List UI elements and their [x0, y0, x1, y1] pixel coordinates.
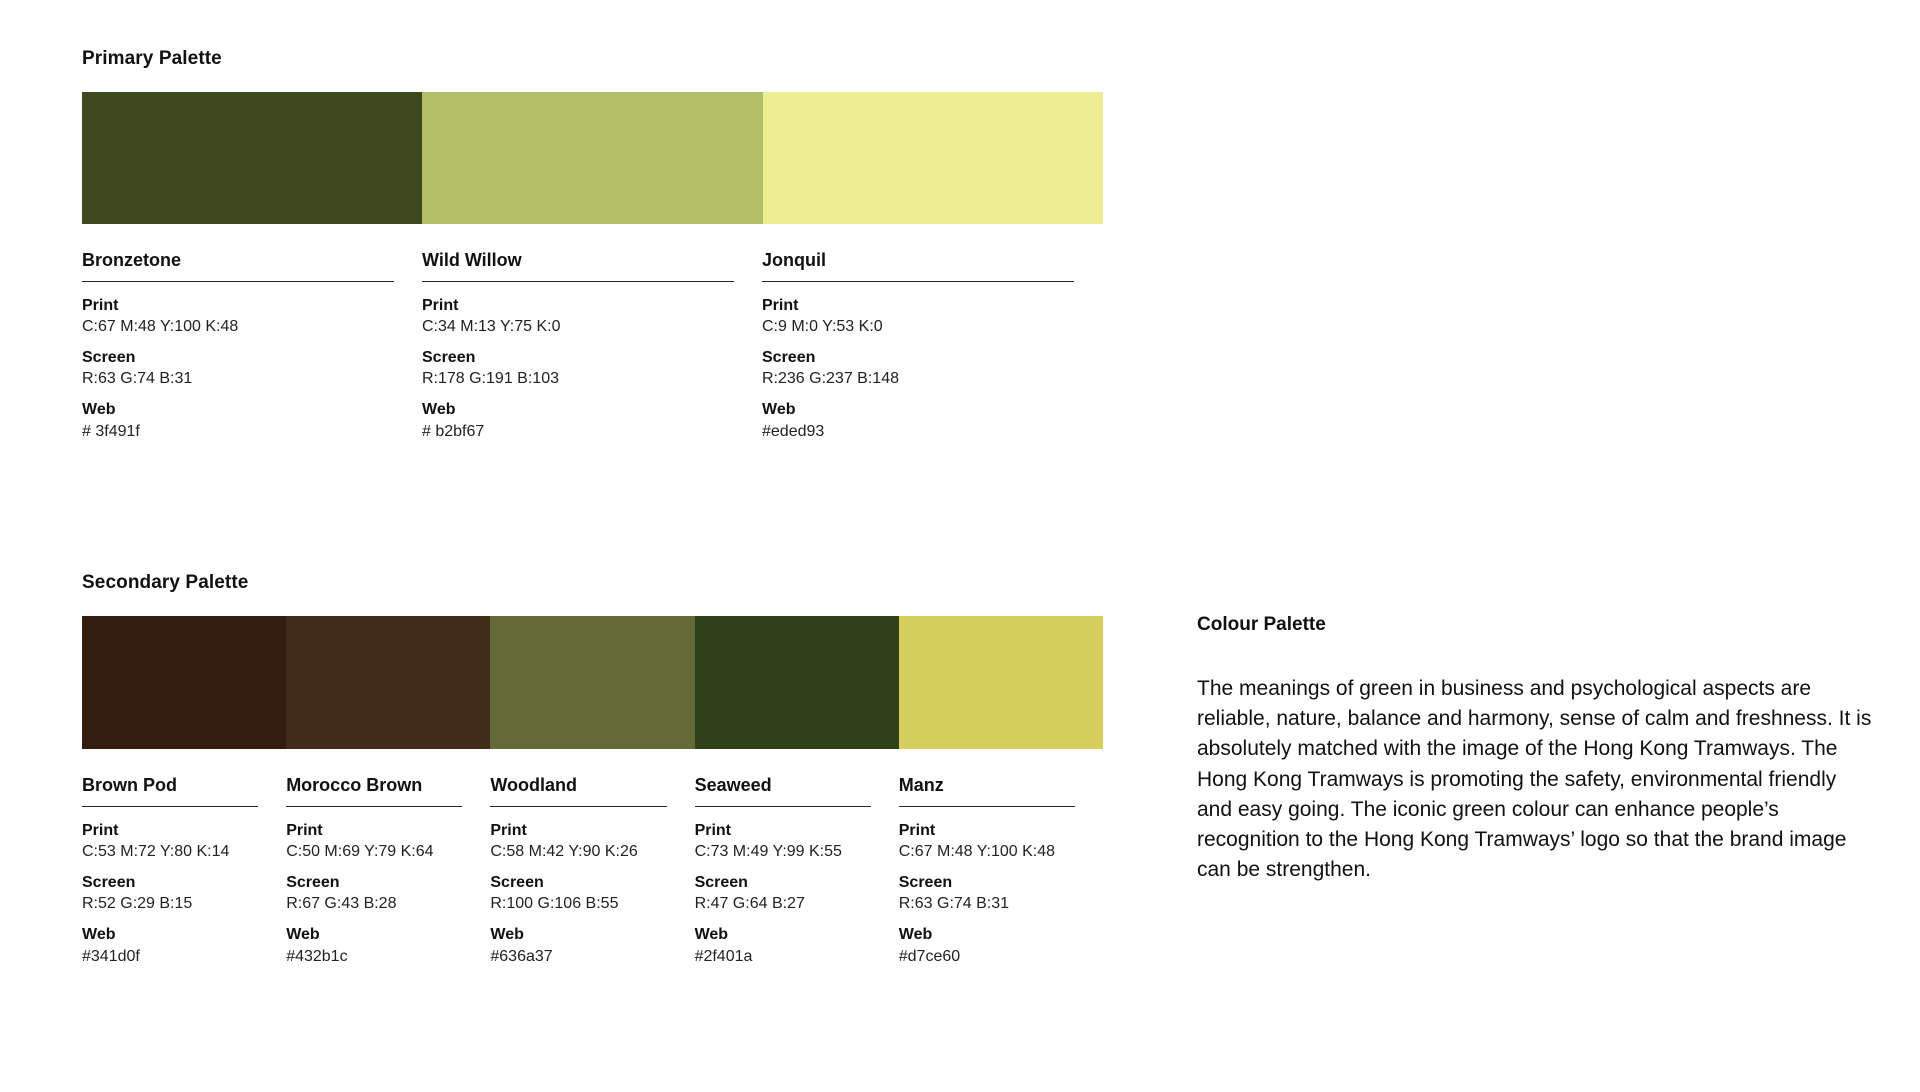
secondary-swatch-band [82, 616, 1103, 749]
colour-name-divider [490, 806, 666, 807]
print-spec-label: Print [899, 820, 1075, 842]
web-spec-value: #2f401a [695, 946, 871, 968]
web-spec-label: Web [286, 924, 462, 946]
web-spec-value: #341d0f [82, 946, 258, 968]
colour-name: Bronzetone [82, 250, 394, 281]
screen-spec-label: Screen [82, 872, 258, 894]
colour-name-divider [422, 281, 734, 282]
palette-page: Primary Palette BronzetonePrintC:67 M:48… [0, 0, 1920, 1092]
screen-spec-label: Screen [422, 347, 734, 369]
web-spec-value: #636a37 [490, 946, 666, 968]
print-spec-label: Print [695, 820, 871, 842]
screen-spec-label: Screen [695, 872, 871, 894]
screen-spec-value: R:63 G:74 B:31 [82, 368, 394, 390]
print-spec-label: Print [82, 820, 258, 842]
colour-name-divider [82, 806, 258, 807]
screen-spec-label: Screen [762, 347, 1074, 369]
colour-detail-column: JonquilPrintC:9 M:0 Y:53 K:0ScreenR:236 … [762, 250, 1102, 442]
web-spec-label: Web [82, 924, 258, 946]
screen-spec-value: R:67 G:43 B:28 [286, 893, 462, 915]
colour-name: Wild Willow [422, 250, 734, 281]
web-spec-label: Web [422, 399, 734, 421]
colour-detail-column: BronzetonePrintC:67 M:48 Y:100 K:48Scree… [82, 250, 422, 442]
colour-name-divider [695, 806, 871, 807]
web-spec-value: # 3f491f [82, 421, 394, 443]
web-spec-label: Web [490, 924, 666, 946]
colour-name: Brown Pod [82, 775, 258, 806]
screen-spec-label: Screen [490, 872, 666, 894]
print-spec-value: C:34 M:13 Y:75 K:0 [422, 316, 734, 338]
colour-name-divider [762, 281, 1074, 282]
screen-spec-value: R:52 G:29 B:15 [82, 893, 258, 915]
print-spec-value: C:53 M:72 Y:80 K:14 [82, 841, 258, 863]
print-spec-label: Print [286, 820, 462, 842]
colour-swatch [899, 616, 1103, 749]
screen-spec-label: Screen [899, 872, 1075, 894]
colour-detail-column: WoodlandPrintC:58 M:42 Y:90 K:26ScreenR:… [490, 775, 694, 967]
print-spec-value: C:58 M:42 Y:90 K:26 [490, 841, 666, 863]
print-spec-label: Print [82, 295, 394, 317]
colour-name: Manz [899, 775, 1075, 806]
colour-name: Seaweed [695, 775, 871, 806]
print-spec-value: C:73 M:49 Y:99 K:55 [695, 841, 871, 863]
colour-swatch [490, 616, 694, 749]
screen-spec-value: R:47 G:64 B:27 [695, 893, 871, 915]
colour-detail-column: ManzPrintC:67 M:48 Y:100 K:48ScreenR:63 … [899, 775, 1103, 967]
colour-name-divider [899, 806, 1075, 807]
print-spec-value: C:50 M:69 Y:79 K:64 [286, 841, 462, 863]
web-spec-value: #eded93 [762, 421, 1074, 443]
screen-spec-label: Screen [286, 872, 462, 894]
screen-spec-value: R:63 G:74 B:31 [899, 893, 1075, 915]
description-title: Colour Palette [1197, 614, 1877, 636]
colour-name: Morocco Brown [286, 775, 462, 806]
colour-detail-column: SeaweedPrintC:73 M:49 Y:99 K:55ScreenR:4… [695, 775, 899, 967]
colour-swatch [82, 616, 286, 749]
web-spec-label: Web [762, 399, 1074, 421]
print-spec-label: Print [490, 820, 666, 842]
web-spec-value: # b2bf67 [422, 421, 734, 443]
colour-swatch [763, 92, 1103, 224]
colour-name-divider [82, 281, 394, 282]
print-spec-value: C:67 M:48 Y:100 K:48 [82, 316, 394, 338]
secondary-swatch-details: Brown PodPrintC:53 M:72 Y:80 K:14ScreenR… [82, 775, 1103, 967]
web-spec-label: Web [82, 399, 394, 421]
colour-palette-description: Colour Palette The meanings of green in … [1197, 614, 1877, 886]
screen-spec-label: Screen [82, 347, 394, 369]
secondary-palette-title: Secondary Palette [82, 572, 1112, 594]
screen-spec-value: R:100 G:106 B:55 [490, 893, 666, 915]
colour-detail-column: Wild WillowPrintC:34 M:13 Y:75 K:0Screen… [422, 250, 762, 442]
colour-swatch [82, 92, 422, 224]
description-body: The meanings of green in business and ps… [1197, 674, 1877, 886]
screen-spec-value: R:236 G:237 B:148 [762, 368, 1074, 390]
primary-palette-title: Primary Palette [82, 48, 1112, 70]
colour-detail-column: Morocco BrownPrintC:50 M:69 Y:79 K:64Scr… [286, 775, 490, 967]
colour-detail-column: Brown PodPrintC:53 M:72 Y:80 K:14ScreenR… [82, 775, 286, 967]
colour-name: Jonquil [762, 250, 1074, 281]
print-spec-value: C:67 M:48 Y:100 K:48 [899, 841, 1075, 863]
print-spec-value: C:9 M:0 Y:53 K:0 [762, 316, 1074, 338]
print-spec-label: Print [422, 295, 734, 317]
secondary-palette-section: Secondary Palette Brown PodPrintC:53 M:7… [82, 572, 1112, 967]
colour-name-divider [286, 806, 462, 807]
primary-swatch-details: BronzetonePrintC:67 M:48 Y:100 K:48Scree… [82, 250, 1103, 442]
colour-swatch [286, 616, 490, 749]
colour-name: Woodland [490, 775, 666, 806]
web-spec-value: #432b1c [286, 946, 462, 968]
colour-swatch [422, 92, 762, 224]
web-spec-label: Web [695, 924, 871, 946]
screen-spec-value: R:178 G:191 B:103 [422, 368, 734, 390]
colour-swatch [695, 616, 899, 749]
primary-swatch-band [82, 92, 1103, 224]
web-spec-label: Web [899, 924, 1075, 946]
print-spec-label: Print [762, 295, 1074, 317]
primary-palette-section: Primary Palette BronzetonePrintC:67 M:48… [82, 48, 1112, 442]
web-spec-value: #d7ce60 [899, 946, 1075, 968]
